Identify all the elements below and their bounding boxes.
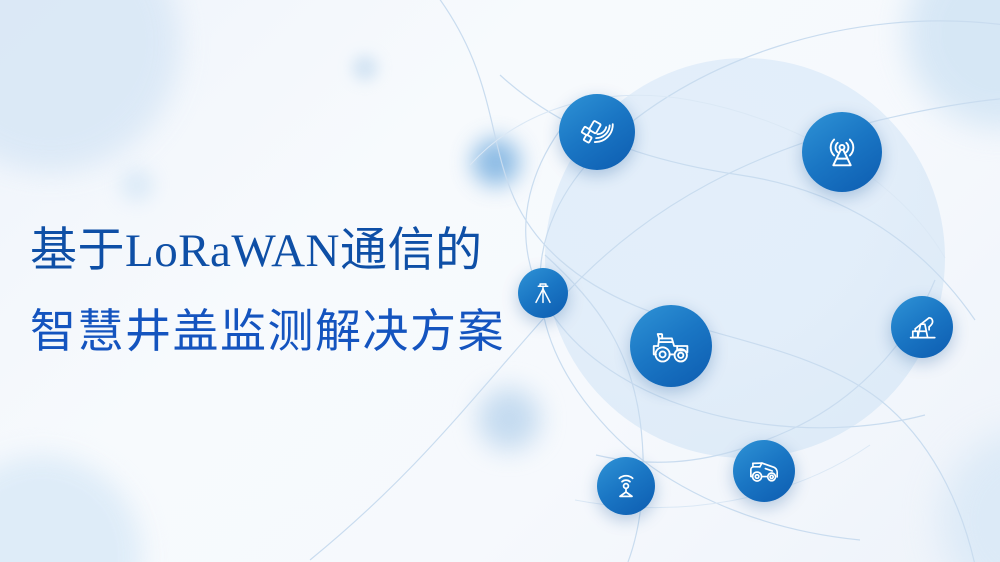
wireless-sensor-icon [610, 470, 642, 502]
background-blob-bottom-right [940, 430, 1000, 562]
title-block: 基于LoRaWAN通信的 智慧井盖监测解决方案 [30, 228, 590, 354]
background-blob-bottom-left [0, 455, 142, 562]
background-dot-lower [478, 388, 540, 450]
background-dot-accent [472, 138, 520, 186]
node-satellite[interactable] [559, 94, 635, 170]
tractor-icon [648, 323, 694, 369]
node-wireless-sensor[interactable] [597, 457, 655, 515]
background-blob-top-right [905, 0, 1000, 128]
node-harvester-vehicle[interactable] [733, 440, 795, 502]
radio-tower-icon [820, 130, 864, 174]
harvester-vehicle-icon [746, 453, 782, 489]
background-blob-top-left [0, 0, 180, 172]
slide-title-line-2: 智慧井盖监测解决方案 [30, 308, 590, 354]
node-radio-tower[interactable] [802, 112, 882, 192]
satellite-signal-icon [576, 111, 618, 153]
node-oil-pumpjack[interactable] [891, 296, 953, 358]
background-dot-small-top [352, 55, 378, 81]
oil-pumpjack-icon [905, 310, 939, 344]
background-dot-small-left [120, 168, 154, 202]
node-tractor[interactable] [630, 305, 712, 387]
slide-title-line-1: 基于LoRaWAN通信的 [30, 228, 590, 275]
slide-canvas: 基于LoRaWAN通信的 智慧井盖监测解决方案 [0, 0, 1000, 562]
